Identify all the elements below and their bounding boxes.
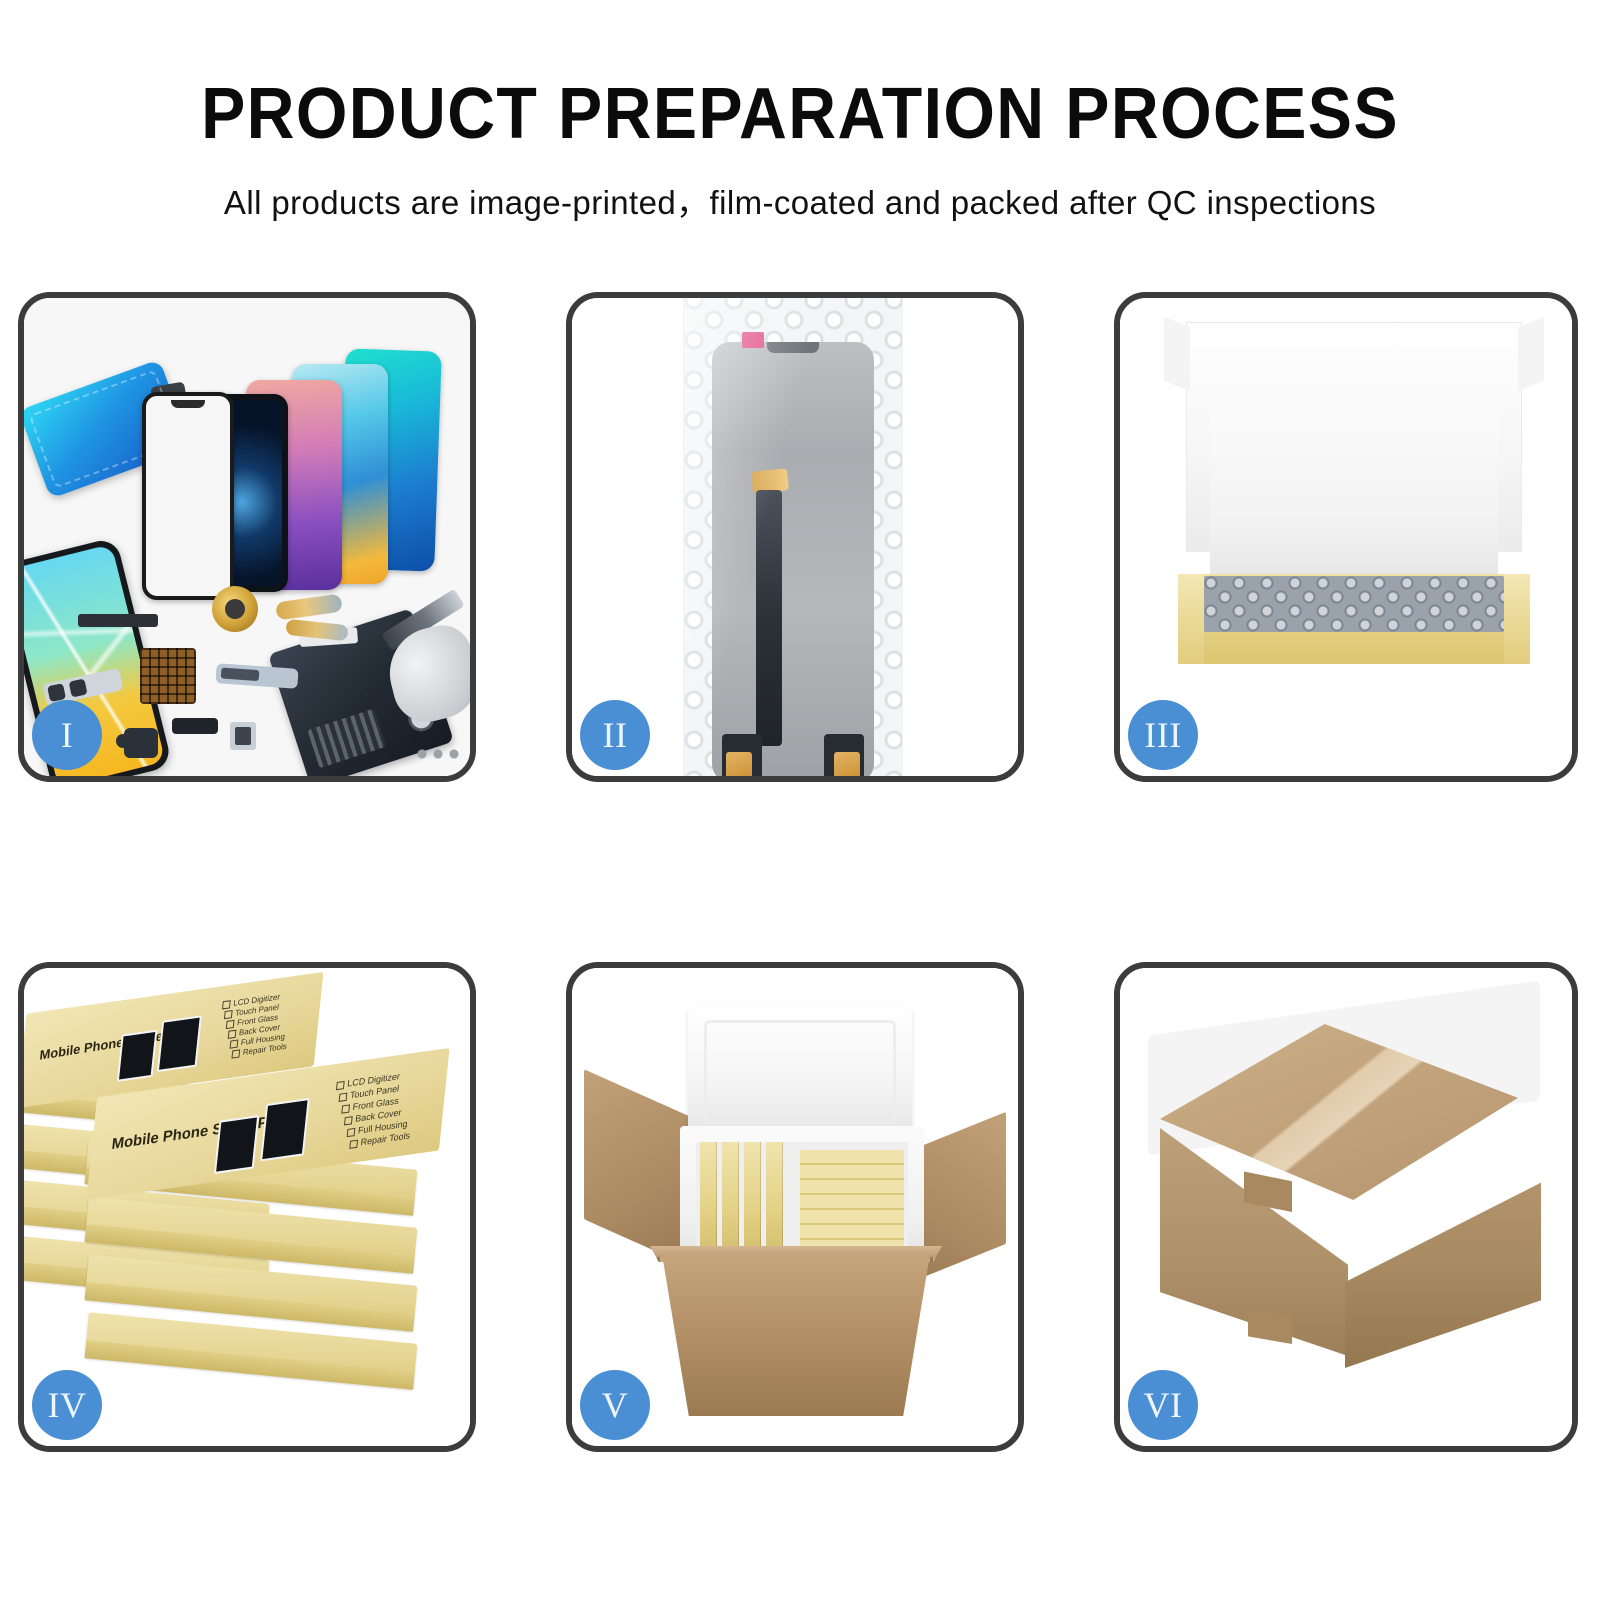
step-badge-2: II [580,700,650,770]
retail-box-screen-thumb [260,1098,310,1162]
flex-cable-part-b [285,619,348,641]
step-badge-6: VI [1128,1370,1198,1440]
foam-cooler-cavity [696,1142,908,1252]
step-panel-bubble-wrapped-lcd[interactable]: II [566,292,1024,782]
retail-box-screen-thumb [214,1115,259,1174]
step-image-carton-with-foam-cooler [572,968,1018,1446]
step-image-mailer-box-with-foam [1120,298,1572,776]
step-panel-products-and-spare-parts[interactable]: I [18,292,476,782]
loudspeaker-part [172,718,218,734]
step-panel-sealed-shipping-carton[interactable]: VI [1114,962,1578,1452]
step-badge-1: I [32,700,102,770]
qc-pass-sticker [742,332,764,348]
foam-cooler-body [680,1126,924,1266]
step-badge-5: V [580,1370,650,1440]
step-badge-4: IV [32,1370,102,1440]
earpiece-speaker-part [78,614,158,627]
foam-cooler-lid [688,1004,912,1140]
vibrator-motor-part [230,722,256,750]
flex-cable-part-a [275,593,343,620]
retail-box-screen-thumb [157,1015,202,1072]
screws-part [416,746,460,762]
step-badge-3: III [1128,700,1198,770]
process-steps-grid: I [0,0,1600,1600]
carton-body [662,1254,930,1416]
wireless-charging-coil-part [212,586,258,632]
front-glass-panel [142,392,234,600]
step-image-sealed-shipping-carton [1120,968,1572,1446]
step-image-stacked-retail-boxes: Mobile Phone Spare Parts LCD Digitizer T… [24,968,470,1446]
step-panel-carton-with-foam-cooler[interactable]: V [566,962,1024,1452]
retail-box-flat-group [800,1150,904,1248]
bubble-wrap-bag [684,298,902,776]
camera-module-part [124,728,158,758]
step-image-products-and-spare-parts [24,298,470,776]
step-panel-stacked-retail-boxes[interactable]: Mobile Phone Spare Parts LCD Digitizer T… [18,962,476,1452]
retail-box-upright [700,1142,717,1252]
retail-box-upright [722,1142,739,1252]
retail-box-upright [744,1142,761,1252]
step-panel-mailer-box-with-foam[interactable]: III [1114,292,1578,782]
retail-box-upright [766,1142,783,1252]
retail-box-screen-thumb [117,1030,158,1082]
step-image-bubble-wrapped-lcd [572,298,1018,776]
grey-bubble-wrap-filling [1204,576,1504,632]
ic-chip-part [140,648,196,704]
lcd-screen-assembly [712,342,874,776]
foam-sheet [1210,408,1498,578]
